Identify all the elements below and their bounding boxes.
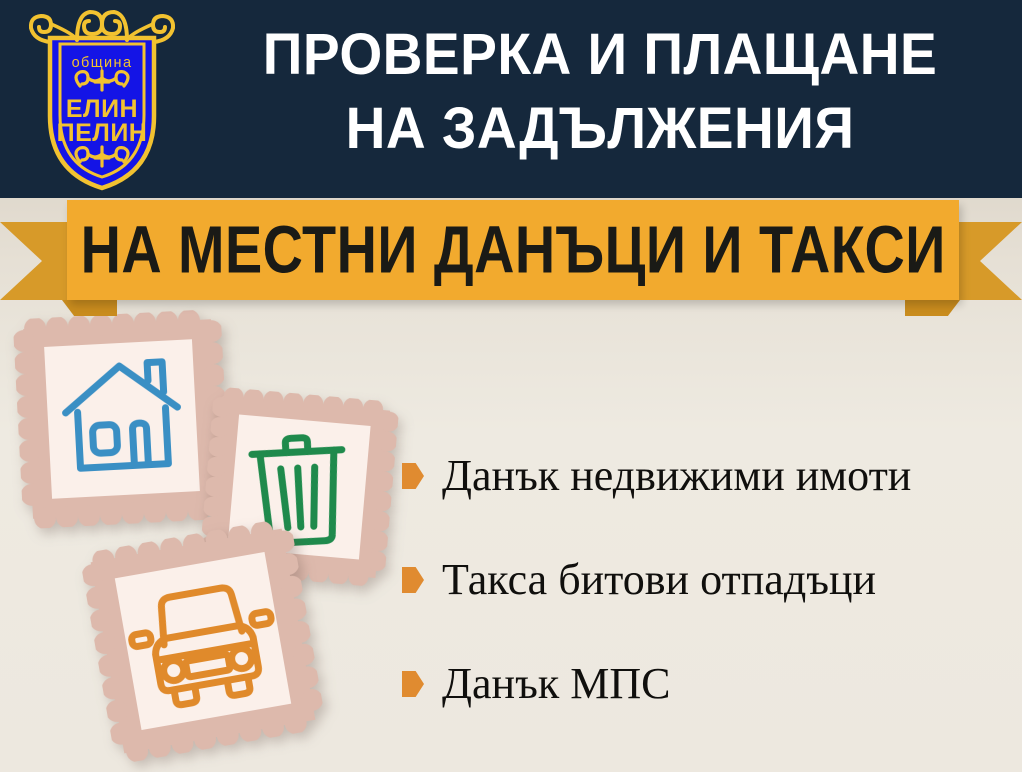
emblem-name-line2: ПЕЛИН (57, 119, 148, 147)
list-item-label: Такса битови отпадъци (442, 556, 876, 604)
ribbon-fold-left (62, 300, 117, 316)
page-title-line-1: ПРОВЕРКА И ПЛАЩАНЕ (211, 18, 990, 92)
page-title-line-2: НА ЗАДЪЛЖЕНИЯ (211, 92, 990, 166)
list-item[interactable]: Данък МПС (402, 632, 1012, 736)
ribbon-subtitle: НА МЕСТНИ ДАНЪЦИ И ТАКСИ (80, 216, 945, 283)
ribbon-banner: НА МЕСТНИ ДАНЪЦИ И ТАКСИ (0, 198, 1022, 310)
list-item[interactable]: Такса битови отпадъци (402, 528, 1012, 632)
house-stamp-graphic (13, 309, 232, 530)
arrow-bullet-icon (402, 463, 424, 489)
ribbon-fold-right (905, 300, 960, 316)
header-bar: община ЕЛИН ПЕЛИН ПРОВЕРКА И (0, 0, 1022, 198)
list-item-label: Данък МПС (442, 660, 670, 708)
stamp-house (13, 309, 232, 530)
ribbon-band: НА МЕСТНИ ДАНЪЦИ И ТАКСИ (67, 200, 959, 300)
header-title-block: ПРОВЕРКА И ПЛАЩАНЕ НА ЗАДЪЛЖЕНИЯ (190, 18, 1010, 166)
arrow-bullet-icon (402, 567, 424, 593)
tax-types-list: Данък недвижими имоти Такса битови отпад… (402, 424, 1012, 736)
list-item[interactable]: Данък недвижими имоти (402, 424, 1012, 528)
municipality-emblem: община ЕЛИН ПЕЛИН (22, 4, 182, 192)
car-stamp-graphic (79, 517, 327, 765)
emblem-small-text: община (72, 55, 133, 71)
list-item-label: Данък недвижими имоти (442, 452, 911, 500)
stamp-car (79, 517, 327, 765)
poster-canvas: община ЕЛИН ПЕЛИН ПРОВЕРКА И (0, 0, 1022, 772)
arrow-bullet-icon (402, 671, 424, 697)
